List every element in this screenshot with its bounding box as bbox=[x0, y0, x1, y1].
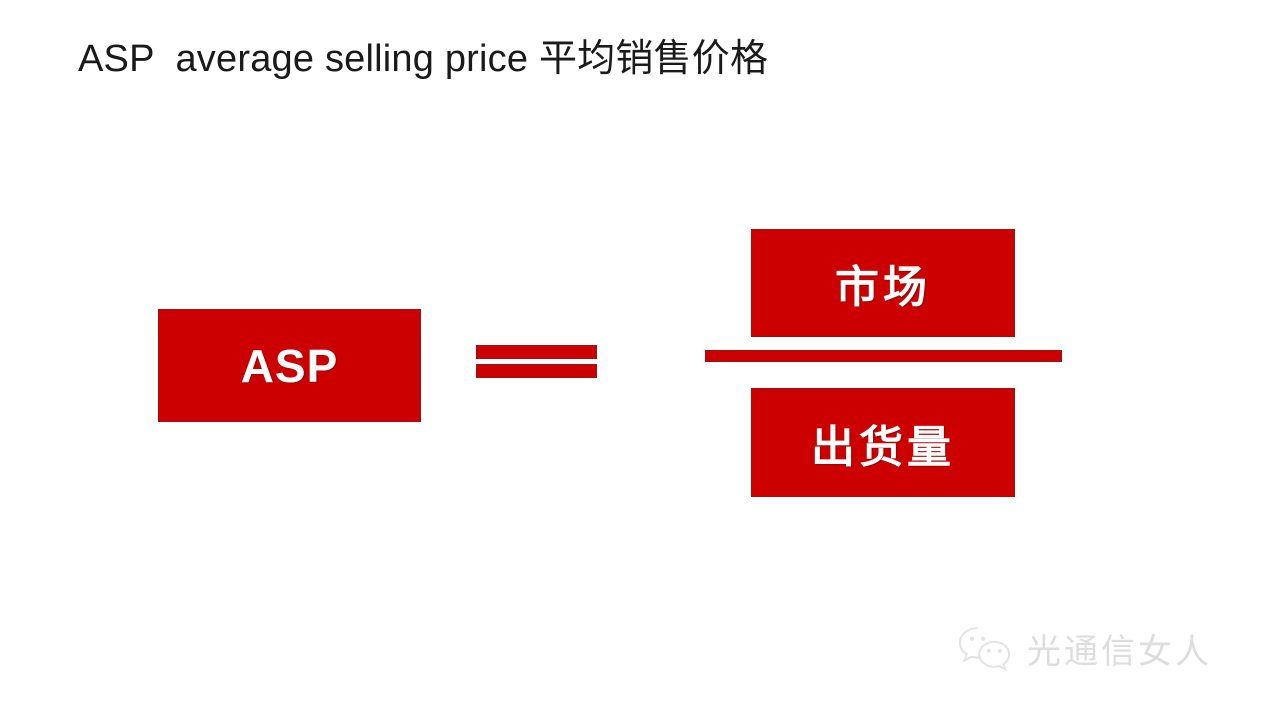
denominator-box: 出货量 bbox=[751, 388, 1015, 497]
numerator-label: 市场 bbox=[835, 251, 931, 315]
slide-canvas: ASP average selling price 平均销售价格 ASP 市场 … bbox=[0, 0, 1280, 720]
denominator-label: 出货量 bbox=[811, 411, 955, 475]
wechat-icon bbox=[955, 622, 1015, 674]
formula-diagram: ASP 市场 出货量 bbox=[0, 0, 1280, 720]
equals-sign bbox=[476, 345, 597, 378]
fraction-bar bbox=[705, 350, 1062, 362]
equals-bar-top bbox=[476, 345, 597, 359]
asp-box: ASP bbox=[158, 309, 421, 422]
asp-box-label: ASP bbox=[241, 339, 339, 393]
numerator-box: 市场 bbox=[751, 229, 1015, 337]
watermark: 光通信女人 bbox=[955, 622, 1212, 674]
equals-bar-bottom bbox=[476, 364, 597, 378]
watermark-text: 光通信女人 bbox=[1027, 624, 1212, 673]
